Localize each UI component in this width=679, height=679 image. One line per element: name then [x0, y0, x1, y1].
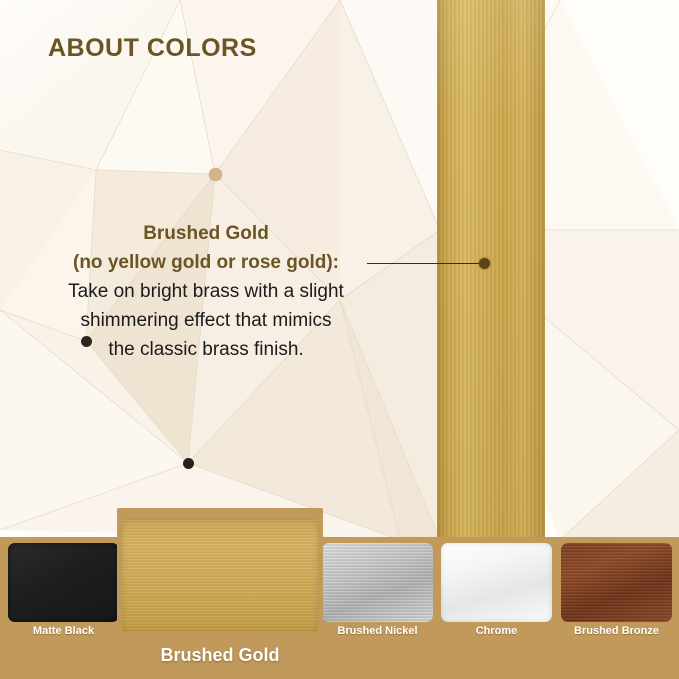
swatch-label-matte-black: Matte Black — [8, 625, 119, 637]
swatch-label-chrome: Chrome — [441, 625, 552, 637]
swatch-matte-black[interactable] — [8, 543, 119, 622]
callout-leader-dot — [479, 258, 490, 269]
swatch-brushed-gold[interactable] — [117, 508, 323, 643]
callout-leader-line — [367, 263, 485, 264]
swatch-label-brushed-nickel: Brushed Nickel — [322, 625, 433, 637]
color-options-infographic: ABOUT COLORS Brushed Gold (no yellow gol… — [0, 0, 679, 679]
swatch-brushed-bronze[interactable] — [561, 543, 672, 622]
swatch-brushed-gold-surface — [122, 519, 318, 632]
annotation-line-1: Take on bright brass with a slight — [46, 277, 366, 306]
swatch-chrome[interactable] — [441, 543, 552, 622]
swatch-brushed-nickel[interactable] — [322, 543, 433, 622]
brushed-gold-sample-bar — [437, 0, 545, 538]
swatch-label-brushed-gold: Brushed Gold — [117, 645, 323, 666]
annotation-heading: Brushed Gold — [46, 219, 366, 248]
annotation-line-2: shimmering effect that mimics — [46, 306, 366, 335]
accent-dot-beige — [209, 168, 222, 181]
swatch-label-brushed-bronze: Brushed Bronze — [561, 625, 672, 637]
annotation-line-3: the classic brass finish. — [46, 335, 366, 364]
accent-dot-dark-2 — [183, 458, 194, 469]
annotation-subheading: (no yellow gold or rose gold): — [46, 248, 366, 277]
brushed-gold-annotation: Brushed Gold (no yellow gold or rose gol… — [46, 219, 366, 364]
page-title: ABOUT COLORS — [48, 34, 257, 63]
